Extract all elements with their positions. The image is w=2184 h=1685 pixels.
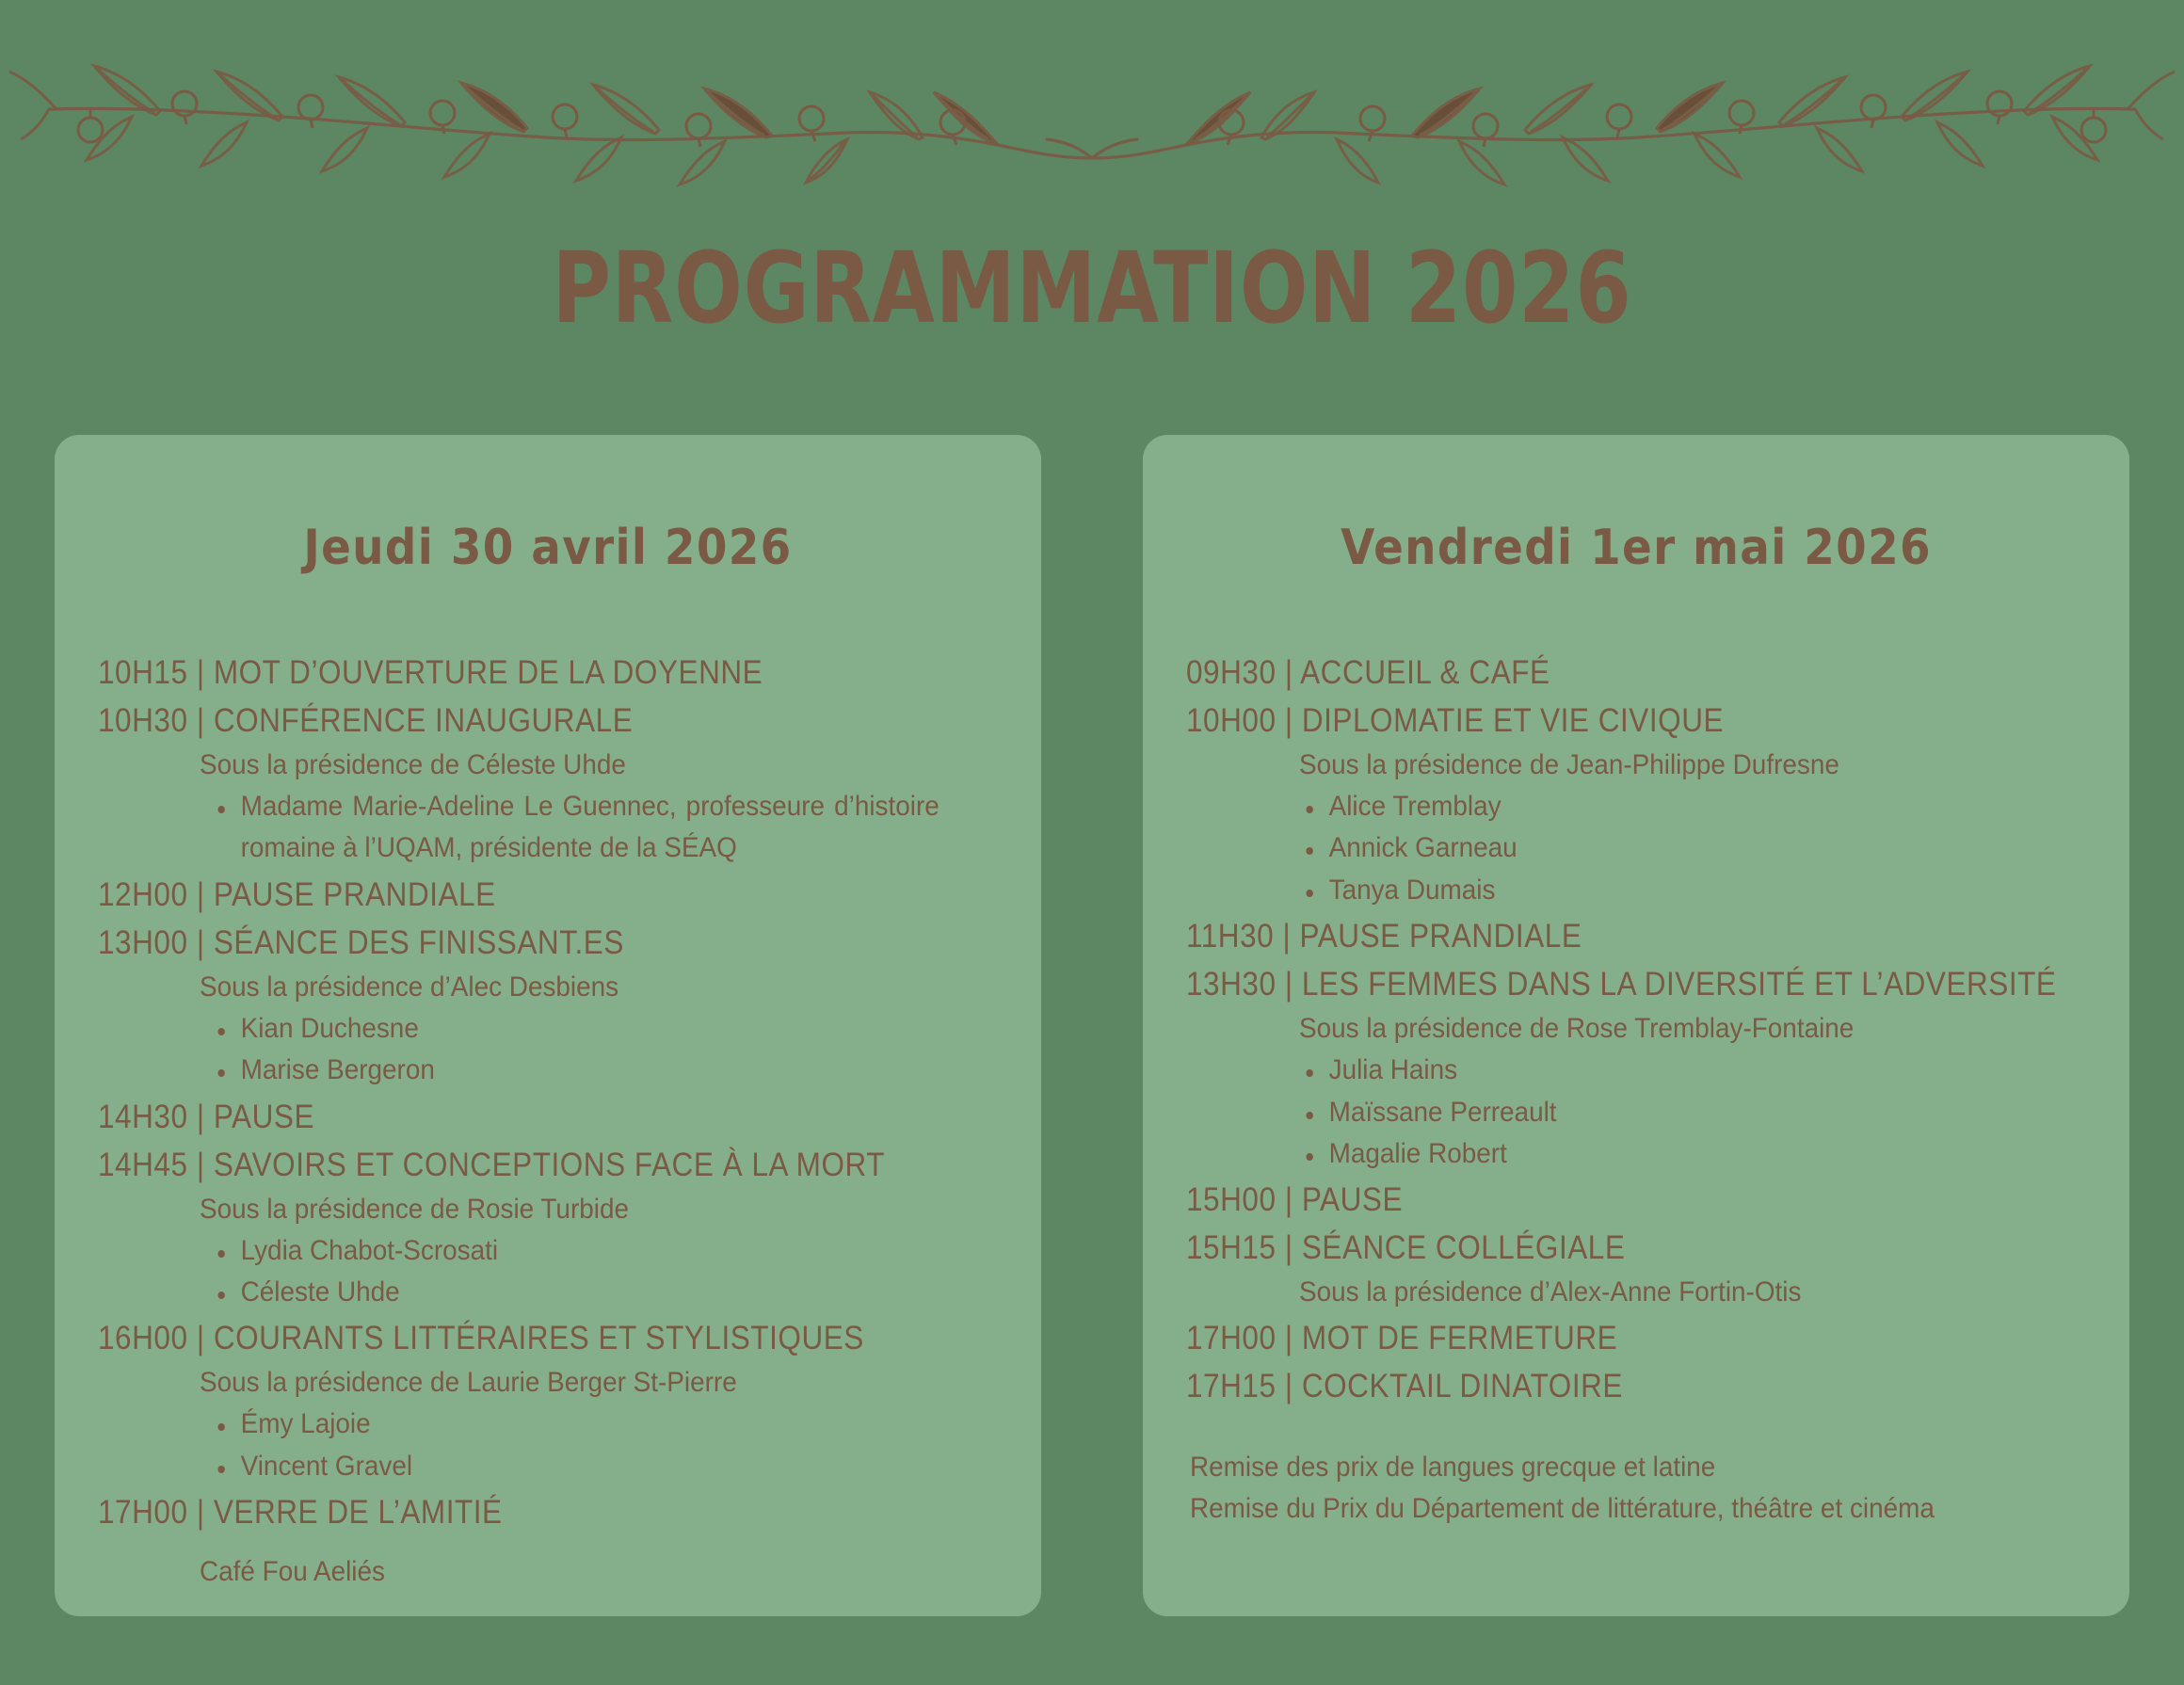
entry-chair: Sous la présidence d’Alex-Anne Fortin-Ot… <box>1299 1271 2036 1313</box>
schedule-entry: 10H30 | CONFÉRENCE INAUGURALE Sous la pr… <box>98 698 1004 870</box>
day-card-thursday: Jeudi 30 avril 2026 10H15 | MOT D’OUVERT… <box>55 435 1041 1616</box>
entry-label: PAUSE PRANDIALE <box>214 876 496 913</box>
schedule-list-thursday: 10H15 | MOT D’OUVERTURE DE LA DOYENNE 10… <box>83 650 1013 1593</box>
schedule-entry: 13H30 | LES FEMMES DANS LA DIVERSITÉ ET … <box>1186 961 2092 1175</box>
entry-heading: 09H30 | ACCUEIL & CAFÉ <box>1186 650 2001 696</box>
list-item: Marise Bergeron <box>211 1050 948 1091</box>
entry-time: 11H30 <box>1186 918 1274 955</box>
schedule-list-friday: 09H30 | ACCUEIL & CAFÉ 10H00 | DIPLOMATI… <box>1171 650 2101 1530</box>
entry-heading: 17H15 | COCKTAIL DINATOIRE <box>1186 1363 2001 1409</box>
schedule-entry: 13H00 | SÉANCE DES FINISSANT.ES Sous la … <box>98 920 1004 1092</box>
list-item: Alice Tremblay <box>1299 786 2036 827</box>
entry-time: 17H00 <box>1186 1320 1277 1356</box>
entry-time: 16H00 <box>98 1320 188 1356</box>
entry-speakers: Alice Tremblay Annick Garneau Tanya Duma… <box>1186 786 2092 911</box>
entry-separator: | <box>1285 654 1293 691</box>
entry-label: MOT D’OUVERTURE DE LA DOYENNE <box>214 654 763 691</box>
entry-time: 09H30 <box>1186 654 1277 691</box>
entry-label: SÉANCE COLLÉGIALE <box>1302 1229 1626 1266</box>
entry-heading: 16H00 | COURANTS LITTÉRAIRES ET STYLISTI… <box>98 1315 913 1361</box>
entry-speakers: Madame Marie-Adeline Le Guennec, profess… <box>98 786 1004 870</box>
entry-label: LES FEMMES DANS LA DIVERSITÉ ET L’ADVERS… <box>1302 966 2057 1003</box>
entry-chair: Sous la présidence de Laurie Berger St-P… <box>200 1361 947 1404</box>
entry-chair: Sous la présidence de Jean-Philippe Dufr… <box>1299 744 2036 786</box>
schedule-entry: 10H15 | MOT D’OUVERTURE DE LA DOYENNE <box>98 650 1004 696</box>
entry-label: PAUSE <box>214 1099 314 1135</box>
entry-label: PAUSE PRANDIALE <box>1300 918 1582 955</box>
entry-speakers: Émy Lajoie Vincent Gravel <box>98 1404 1004 1487</box>
entry-heading: 17H00 | VERRE DE L’AMITIÉ <box>98 1489 913 1535</box>
entry-label: SAVOIRS ET CONCEPTIONS FACE À LA MORT <box>214 1147 885 1183</box>
entry-separator: | <box>1285 1181 1293 1218</box>
day-title: Jeudi 30 avril 2026 <box>129 520 966 576</box>
schedule-entry: 16H00 | COURANTS LITTÉRAIRES ET STYLISTI… <box>98 1315 1004 1487</box>
entry-time: 14H45 <box>98 1147 188 1183</box>
entry-heading: 14H30 | PAUSE <box>98 1094 913 1140</box>
list-item: Maïssane Perreault <box>1299 1092 2036 1133</box>
entry-heading: 11H30 | PAUSE PRANDIALE <box>1186 913 2001 959</box>
schedule-entry: 10H00 | DIPLOMATIE ET VIE CIVIQUE Sous l… <box>1186 698 2092 911</box>
entry-label: ACCUEIL & CAFÉ <box>1300 654 1550 691</box>
entry-time: 17H15 <box>1186 1368 1277 1404</box>
entry-venue: Café Fou Aeliés <box>200 1550 947 1593</box>
entry-label: VERRE DE L’AMITIÉ <box>214 1494 503 1531</box>
schedule-entry: 14H30 | PAUSE <box>98 1094 1004 1140</box>
entry-chair: Sous la présidence de Rosie Turbide <box>200 1188 947 1230</box>
entry-separator: | <box>197 654 205 691</box>
page-title: PROGRAMMATION 2026 <box>197 237 1987 340</box>
entry-heading: 10H15 | MOT D’OUVERTURE DE LA DOYENNE <box>98 650 913 696</box>
entry-separator: | <box>197 1099 205 1135</box>
entry-heading: 10H00 | DIPLOMATIE ET VIE CIVIQUE <box>1186 698 2001 744</box>
entry-label: DIPLOMATIE ET VIE CIVIQUE <box>1302 702 1724 739</box>
entry-time: 15H15 <box>1186 1229 1277 1266</box>
closing-notes: Remise des prix de langues grecque et la… <box>1186 1447 2092 1530</box>
entry-heading: 15H15 | SÉANCE COLLÉGIALE <box>1186 1225 2001 1271</box>
list-item: Julia Hains <box>1299 1050 2036 1091</box>
entry-label: MOT DE FERMETURE <box>1302 1320 1617 1356</box>
entry-chair: Sous la présidence de Céleste Uhde <box>200 744 947 786</box>
entry-separator: | <box>1285 1368 1293 1404</box>
entry-separator: | <box>197 876 205 913</box>
entry-time: 13H30 <box>1186 966 1277 1003</box>
entry-separator: | <box>197 702 205 739</box>
entry-heading: 10H30 | CONFÉRENCE INAUGURALE <box>98 698 913 744</box>
entry-time: 10H15 <box>98 654 188 691</box>
entry-heading: 13H00 | SÉANCE DES FINISSANT.ES <box>98 920 913 966</box>
entry-speakers: Kian Duchesne Marise Bergeron <box>98 1008 1004 1092</box>
entry-separator: | <box>1285 1320 1293 1356</box>
entry-separator: | <box>197 1494 205 1531</box>
entry-heading: 17H00 | MOT DE FERMETURE <box>1186 1315 2001 1361</box>
entry-time: 15H00 <box>1186 1181 1277 1218</box>
day-card-friday: Vendredi 1er mai 2026 09H30 | ACCUEIL & … <box>1143 435 2129 1616</box>
entry-separator: | <box>197 924 205 961</box>
entry-time: 14H30 <box>98 1099 188 1135</box>
closing-note: Remise du Prix du Département de littéra… <box>1190 1488 2029 1530</box>
entry-separator: | <box>197 1320 205 1356</box>
entry-speakers: Lydia Chabot-Scrosati Céleste Uhde <box>98 1230 1004 1314</box>
schedule-entry: 12H00 | PAUSE PRANDIALE <box>98 872 1004 918</box>
entry-time: 10H00 <box>1186 702 1277 739</box>
schedule-entry: 09H30 | ACCUEIL & CAFÉ <box>1186 650 2092 696</box>
schedule-entry: 17H00 | VERRE DE L’AMITIÉ Café Fou Aelié… <box>98 1489 1004 1593</box>
schedule-entry: 15H00 | PAUSE <box>1186 1177 2092 1223</box>
entry-label: SÉANCE DES FINISSANT.ES <box>214 924 624 961</box>
schedule-entry: 15H15 | SÉANCE COLLÉGIALE Sous la présid… <box>1186 1225 2092 1313</box>
list-item: Lydia Chabot-Scrosati <box>211 1230 948 1272</box>
schedule-entry: 11H30 | PAUSE PRANDIALE <box>1186 913 2092 959</box>
entry-chair: Sous la présidence de Rose Tremblay-Font… <box>1299 1007 2036 1050</box>
list-item: Kian Duchesne <box>211 1008 948 1050</box>
entry-heading: 15H00 | PAUSE <box>1186 1177 2001 1223</box>
closing-note: Remise des prix de langues grecque et la… <box>1190 1447 2029 1488</box>
list-item: Tanya Dumais <box>1299 870 2036 911</box>
entry-separator: | <box>1285 966 1293 1003</box>
entry-heading: 13H30 | LES FEMMES DANS LA DIVERSITÉ ET … <box>1186 961 2001 1007</box>
entry-time: 17H00 <box>98 1494 188 1531</box>
day-title: Vendredi 1er mai 2026 <box>1217 520 2054 576</box>
list-item: Madame Marie-Adeline Le Guennec, profess… <box>211 786 948 870</box>
list-item: Céleste Uhde <box>211 1272 948 1313</box>
entry-label: PAUSE <box>1302 1181 1403 1218</box>
entry-label: COCKTAIL DINATOIRE <box>1302 1368 1623 1404</box>
botanical-laurel-border-icon <box>0 17 2184 191</box>
entry-speakers: Julia Hains Maïssane Perreault Magalie R… <box>1186 1050 2092 1175</box>
schedule-entry: 17H00 | MOT DE FERMETURE <box>1186 1315 2092 1361</box>
entry-separator: | <box>1285 1229 1293 1266</box>
entry-heading: 14H45 | SAVOIRS ET CONCEPTIONS FACE À LA… <box>98 1142 913 1188</box>
entry-time: 10H30 <box>98 702 188 739</box>
entry-label: CONFÉRENCE INAUGURALE <box>214 702 633 739</box>
entry-separator: | <box>1282 918 1291 955</box>
entry-heading: 12H00 | PAUSE PRANDIALE <box>98 872 913 918</box>
list-item: Annick Garneau <box>1299 827 2036 869</box>
schedule-entry: 17H15 | COCKTAIL DINATOIRE <box>1186 1363 2092 1409</box>
entry-label: COURANTS LITTÉRAIRES ET STYLISTIQUES <box>214 1320 864 1356</box>
list-item: Vincent Gravel <box>211 1446 948 1487</box>
entry-chair: Sous la présidence d’Alec Desbiens <box>200 966 947 1008</box>
entry-separator: | <box>1285 702 1293 739</box>
list-item: Émy Lajoie <box>211 1404 948 1445</box>
entry-separator: | <box>197 1147 205 1183</box>
list-item: Magalie Robert <box>1299 1133 2036 1175</box>
schedule-entry: 14H45 | SAVOIRS ET CONCEPTIONS FACE À LA… <box>98 1142 1004 1314</box>
entry-time: 12H00 <box>98 876 188 913</box>
program-days-container: Jeudi 30 avril 2026 10H15 | MOT D’OUVERT… <box>0 435 2184 1616</box>
entry-time: 13H00 <box>98 924 188 961</box>
